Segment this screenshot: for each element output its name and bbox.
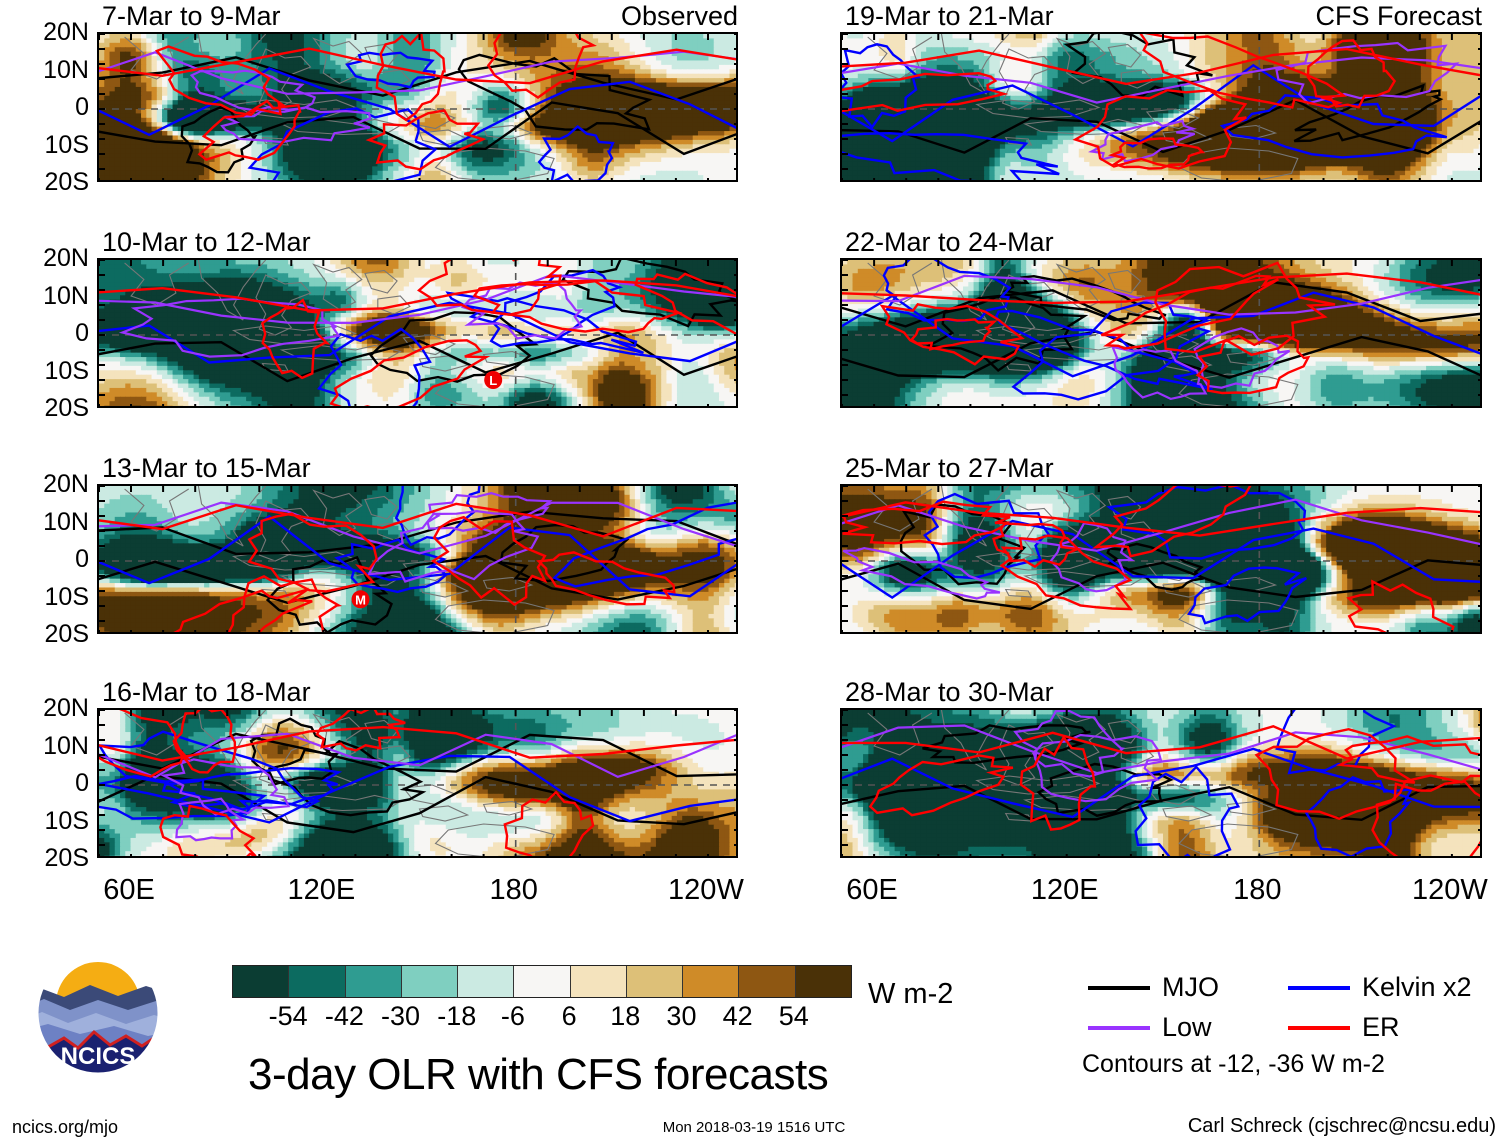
colorbar-tick: -54 xyxy=(269,1003,308,1030)
colorbar-swatch-0 xyxy=(233,966,289,997)
contour-note: Contours at -12, -36 W m-2 xyxy=(1082,1052,1385,1077)
panel-title: 16-Mar to 18-Mar xyxy=(102,679,311,706)
x-axis-label: 120E xyxy=(287,876,355,905)
colorbar-swatch-4 xyxy=(458,966,514,997)
colorbar-swatch-10 xyxy=(796,966,851,997)
y-axis-label: 0 xyxy=(5,547,89,572)
footer-website[interactable]: ncics.org/mjo xyxy=(12,1118,118,1136)
panel-kind-label: CFS Forecast xyxy=(840,3,1482,30)
panel-title: 28-Mar to 30-Mar xyxy=(845,679,1054,706)
panel-title: 13-Mar to 15-Mar xyxy=(102,455,311,482)
mjo-line-swatch xyxy=(1088,986,1150,990)
y-axis-label: 10S xyxy=(5,133,89,158)
y-axis-label: 10N xyxy=(5,58,89,83)
colorbar-swatch-5 xyxy=(514,966,570,997)
kelvin-line-swatch xyxy=(1288,986,1350,990)
colorbar-tick: 18 xyxy=(610,1003,640,1030)
low-line-swatch xyxy=(1088,1026,1150,1030)
olr-map-panel[interactable]: M xyxy=(97,484,738,634)
x-axis-label: 180 xyxy=(489,876,537,905)
olr-map-panel[interactable]: L xyxy=(97,258,738,408)
x-axis-label: 180 xyxy=(1233,876,1281,905)
colorbar-swatch-3 xyxy=(402,966,458,997)
y-axis-label: 20S xyxy=(5,396,89,421)
ncics-logo: NCICS xyxy=(18,952,178,1074)
y-axis-label: 10N xyxy=(5,734,89,759)
legend-item-low: Low xyxy=(1088,1014,1212,1041)
colorbar-units: W m-2 xyxy=(868,980,953,1009)
er-line-swatch xyxy=(1288,1026,1350,1030)
y-axis-label: 20N xyxy=(5,472,89,497)
page-title: 3-day OLR with CFS forecasts xyxy=(248,1052,828,1098)
y-axis-label: 20N xyxy=(5,246,89,271)
legend-label-mjo: MJO xyxy=(1162,974,1219,1001)
colorbar xyxy=(232,965,852,998)
y-axis-label: 10S xyxy=(5,359,89,384)
panel-title: 22-Mar to 24-Mar xyxy=(845,229,1054,256)
x-axis-label: 120W xyxy=(1412,876,1488,905)
x-axis-label: 60E xyxy=(846,876,898,905)
legend-item-mjo: MJO xyxy=(1088,974,1219,1001)
y-axis-label: 10N xyxy=(5,510,89,535)
olr-map-panel[interactable] xyxy=(840,708,1482,858)
colorbar-tick: 54 xyxy=(779,1003,809,1030)
colorbar-tick-labels: -54-42-30-18-6618304254 xyxy=(232,1003,850,1033)
y-axis-label: 20S xyxy=(5,846,89,871)
colorbar-swatch-9 xyxy=(739,966,795,997)
olr-map-panel[interactable] xyxy=(840,258,1482,408)
colorbar-tick: -30 xyxy=(381,1003,420,1030)
legend-label-low: Low xyxy=(1162,1014,1212,1041)
legend-item-kelvin: Kelvin x2 xyxy=(1288,974,1472,1001)
y-axis-label: 10S xyxy=(5,585,89,610)
footer-timestamp: Mon 2018-03-19 1516 UTC xyxy=(663,1120,846,1135)
colorbar-swatch-7 xyxy=(627,966,683,997)
colorbar-swatch-1 xyxy=(289,966,345,997)
colorbar-tick: -18 xyxy=(437,1003,476,1030)
y-axis-label: 20N xyxy=(5,696,89,721)
olr-map-panel[interactable] xyxy=(97,32,738,182)
olr-map-panel[interactable] xyxy=(840,32,1482,182)
y-axis-label: 0 xyxy=(5,321,89,346)
x-axis-label: 120W xyxy=(668,876,744,905)
colorbar-tick: 6 xyxy=(562,1003,577,1030)
y-axis-label: 10N xyxy=(5,284,89,309)
footer-author: Carl Schreck (cjschrec@ncsu.edu) xyxy=(1188,1116,1496,1136)
colorbar-tick: 30 xyxy=(666,1003,696,1030)
legend-label-kelvin: Kelvin x2 xyxy=(1362,974,1472,1001)
y-axis-label: 20S xyxy=(5,622,89,647)
colorbar-swatch-2 xyxy=(346,966,402,997)
colorbar-tick: -6 xyxy=(501,1003,525,1030)
legend-label-er: ER xyxy=(1362,1014,1400,1041)
x-axis-label: 120E xyxy=(1031,876,1099,905)
x-axis-label: 60E xyxy=(103,876,155,905)
olr-map-panel[interactable] xyxy=(840,484,1482,634)
panel-title: 10-Mar to 12-Mar xyxy=(102,229,311,256)
y-axis-label: 0 xyxy=(5,95,89,120)
olr-map-panel[interactable] xyxy=(97,708,738,858)
y-axis-label: 10S xyxy=(5,809,89,834)
y-axis-label: 20S xyxy=(5,170,89,195)
y-axis-label: 0 xyxy=(5,771,89,796)
panel-title: 25-Mar to 27-Mar xyxy=(845,455,1054,482)
legend-item-er: ER xyxy=(1288,1014,1400,1041)
panel-kind-label: Observed xyxy=(97,3,738,30)
colorbar-swatch-6 xyxy=(571,966,627,997)
colorbar-tick: -42 xyxy=(325,1003,364,1030)
ncics-logo-text: NCICS xyxy=(61,1043,136,1070)
colorbar-swatch-8 xyxy=(683,966,739,997)
y-axis-label: 20N xyxy=(5,20,89,45)
colorbar-tick: 42 xyxy=(723,1003,753,1030)
